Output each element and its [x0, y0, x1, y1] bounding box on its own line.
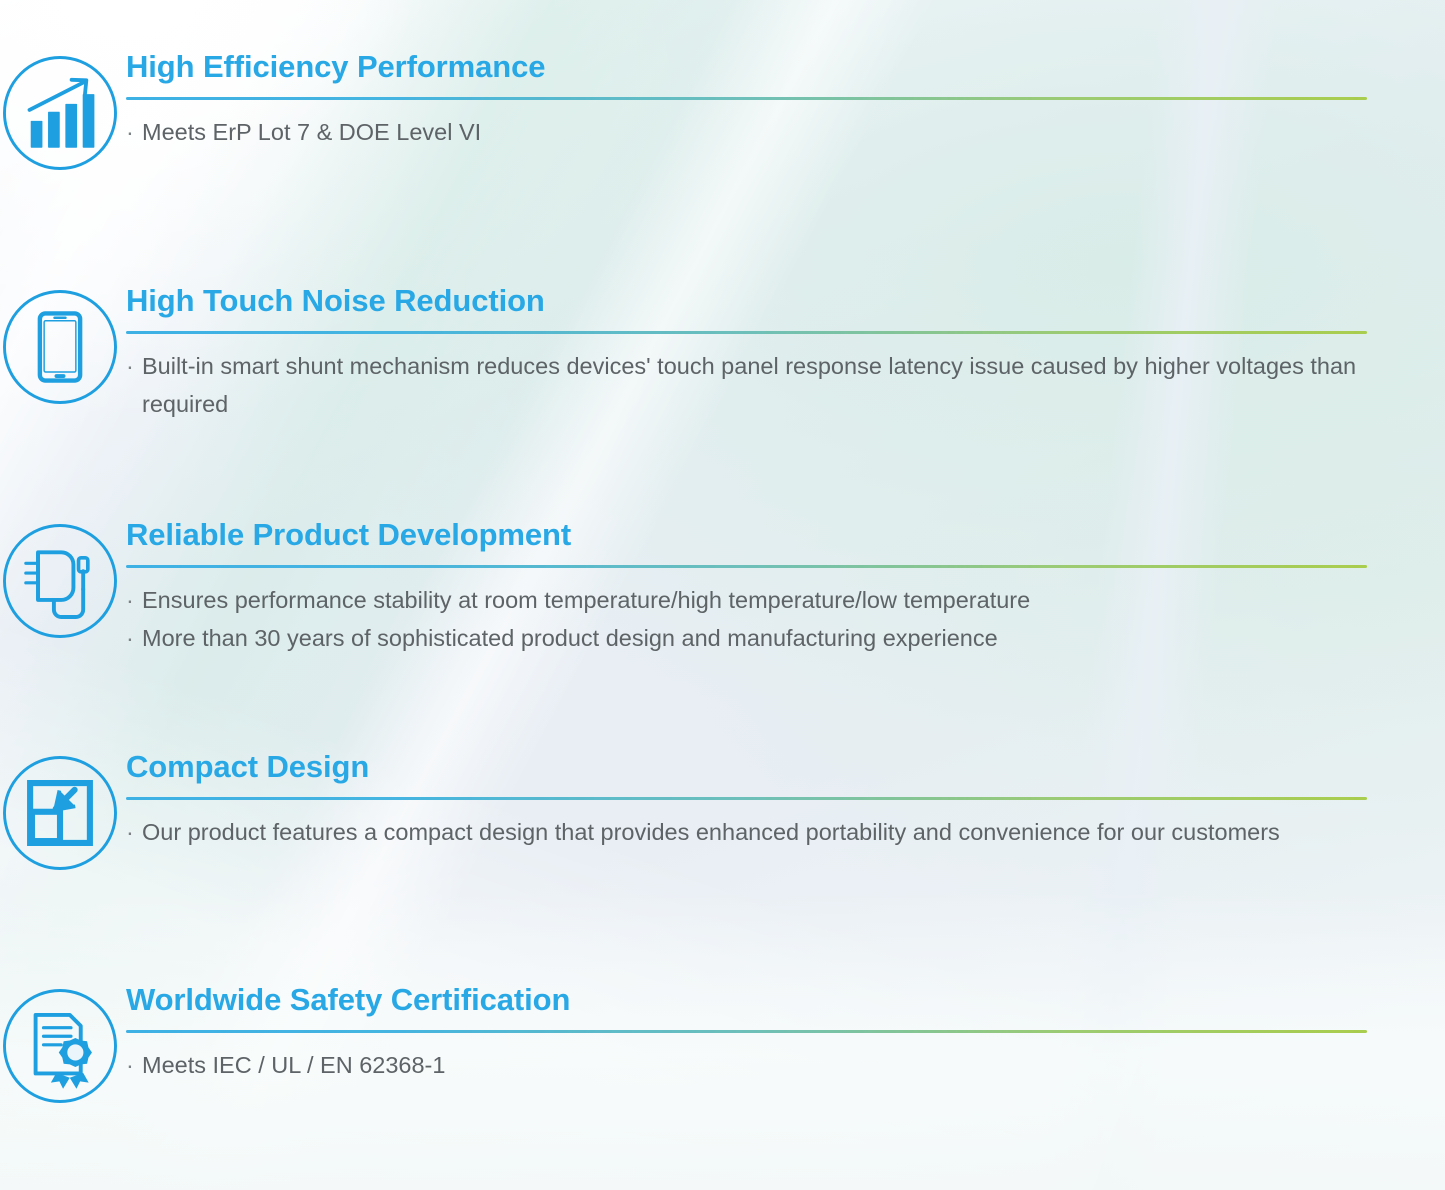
bullet-text: Ensures performance stability at room te… — [142, 581, 1367, 619]
feature-bullet: ·Our product features a compact design t… — [126, 813, 1367, 851]
power-adapter-icon — [0, 520, 121, 642]
feature-title: Worldwide Safety Certification — [126, 983, 1367, 1018]
feature-item: High Touch Noise Reduction·Built-in smar… — [0, 282, 1445, 423]
feature-bullet-list: ·Meets ErP Lot 7 & DOE Level VI — [126, 113, 1367, 151]
feature-bullet: ·Meets IEC / UL / EN 62368-1 — [126, 1046, 1367, 1084]
bullet-marker: · — [126, 581, 142, 619]
feature-bullet-list: ·Our product features a compact design t… — [126, 813, 1367, 851]
feature-divider — [126, 797, 1367, 800]
feature-bullet-list: ·Ensures performance stability at room t… — [126, 581, 1367, 657]
feature-item: Worldwide Safety Certification·Meets IEC… — [0, 981, 1445, 1107]
bullet-marker: · — [126, 347, 142, 423]
feature-item: Compact Design·Our product features a co… — [0, 748, 1445, 874]
feature-item: High Efficiency Performance·Meets ErP Lo… — [0, 48, 1445, 174]
feature-icon-wrap — [0, 48, 126, 174]
bullet-marker: · — [126, 619, 142, 657]
feature-icon-wrap — [0, 516, 126, 642]
feature-title: Compact Design — [126, 750, 1367, 785]
feature-title: High Touch Noise Reduction — [126, 284, 1367, 319]
bullet-text: Built-in smart shunt mechanism reduces d… — [142, 347, 1367, 423]
feature-icon-wrap — [0, 748, 126, 874]
bullet-marker: · — [126, 113, 142, 151]
feature-bullet: ·Built-in smart shunt mechanism reduces … — [126, 347, 1367, 423]
feature-content: Compact Design·Our product features a co… — [126, 748, 1445, 851]
bullet-text: Our product features a compact design th… — [142, 813, 1367, 851]
bar-chart-growth-icon — [0, 52, 121, 174]
feature-icon-wrap — [0, 282, 126, 408]
feature-content: High Efficiency Performance·Meets ErP Lo… — [126, 48, 1445, 151]
feature-item: Reliable Product Development·Ensures per… — [0, 516, 1445, 657]
feature-title: High Efficiency Performance — [126, 50, 1367, 85]
feature-bullet-list: ·Built-in smart shunt mechanism reduces … — [126, 347, 1367, 423]
feature-content: Worldwide Safety Certification·Meets IEC… — [126, 981, 1445, 1084]
feature-bullet: ·Ensures performance stability at room t… — [126, 581, 1367, 619]
feature-bullet: ·Meets ErP Lot 7 & DOE Level VI — [126, 113, 1367, 151]
certificate-award-icon — [0, 985, 121, 1107]
feature-bullet: ·More than 30 years of sophisticated pro… — [126, 619, 1367, 657]
feature-title: Reliable Product Development — [126, 518, 1367, 553]
feature-list-panel: High Efficiency Performance·Meets ErP Lo… — [0, 0, 1445, 1190]
feature-content: High Touch Noise Reduction·Built-in smar… — [126, 282, 1445, 423]
feature-divider — [126, 97, 1367, 100]
compact-resize-icon — [0, 752, 121, 874]
smartphone-icon — [0, 286, 121, 408]
bullet-text: More than 30 years of sophisticated prod… — [142, 619, 1367, 657]
feature-divider — [126, 331, 1367, 334]
feature-content: Reliable Product Development·Ensures per… — [126, 516, 1445, 657]
feature-divider — [126, 565, 1367, 568]
feature-bullet-list: ·Meets IEC / UL / EN 62368-1 — [126, 1046, 1367, 1084]
bullet-text: Meets IEC / UL / EN 62368-1 — [142, 1046, 1367, 1084]
feature-icon-wrap — [0, 981, 126, 1107]
feature-divider — [126, 1030, 1367, 1033]
bullet-marker: · — [126, 813, 142, 851]
bullet-marker: · — [126, 1046, 142, 1084]
bullet-text: Meets ErP Lot 7 & DOE Level VI — [142, 113, 1367, 151]
